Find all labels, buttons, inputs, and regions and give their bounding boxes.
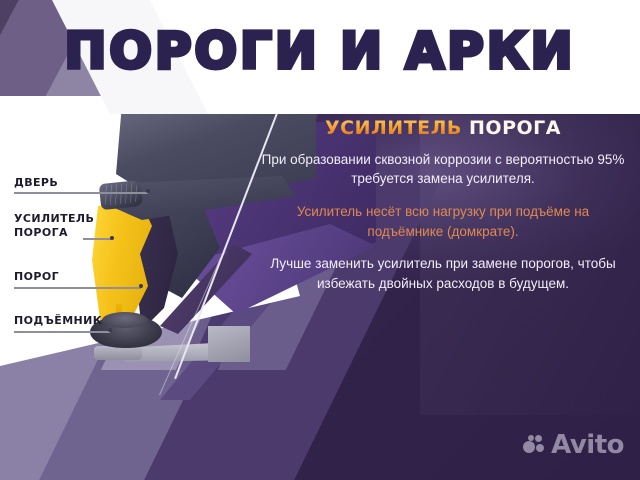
jack-foot-shape: [94, 346, 142, 360]
jack-pad-top-shape: [102, 312, 148, 328]
callout-leader-sill: [14, 287, 141, 289]
callout-leader-jack: [14, 331, 110, 333]
callout-dot-sill-reinforcer: [110, 236, 114, 240]
copy-heading-part1: УСИЛИТЕЛЬ: [325, 117, 462, 139]
copy-paragraph-3: Лучше заменить усилитель при замене поро…: [252, 254, 634, 293]
callout-label-jack: ПОДЪЁМНИК: [14, 314, 102, 328]
copy-paragraph-1: При образовании сквозной коррозии с веро…: [252, 150, 634, 189]
copy-heading: УСИЛИТЕЛЬ ПОРОГА: [252, 118, 634, 139]
callout-leader-door: [14, 192, 148, 194]
copy-paragraph-2: Усилитель несёт всю нагрузку при подъёме…: [252, 202, 634, 241]
copy-block: УСИЛИТЕЛЬ ПОРОГА При образовании сквозно…: [252, 118, 634, 293]
door-seal-ribs: [101, 182, 139, 206]
page-title: ПОРОГИ И АРКИ: [0, 26, 640, 76]
avito-watermark: Avito: [523, 430, 624, 460]
callout-label-door: ДВЕРЬ: [14, 176, 58, 190]
callout-leader-sill-reinforcer: [83, 238, 112, 240]
callout-dot-sill: [139, 284, 143, 288]
avito-wordmark: Avito: [551, 430, 624, 460]
callout-dot-door: [146, 189, 150, 193]
callout-dot-jack: [108, 328, 112, 332]
copy-heading-part2: ПОРОГА: [469, 117, 561, 139]
avito-dots-icon: [523, 435, 545, 455]
banner-image: ПОРОГИ И АРКИ ДВЕРЬ УСИЛИТЕЛЬ ПОРОГА ПОР…: [0, 0, 640, 480]
callout-label-sill: ПОРОГ: [14, 270, 59, 284]
callout-label-sill-reinforcer: УСИЛИТЕЛЬ ПОРОГА: [14, 212, 94, 240]
